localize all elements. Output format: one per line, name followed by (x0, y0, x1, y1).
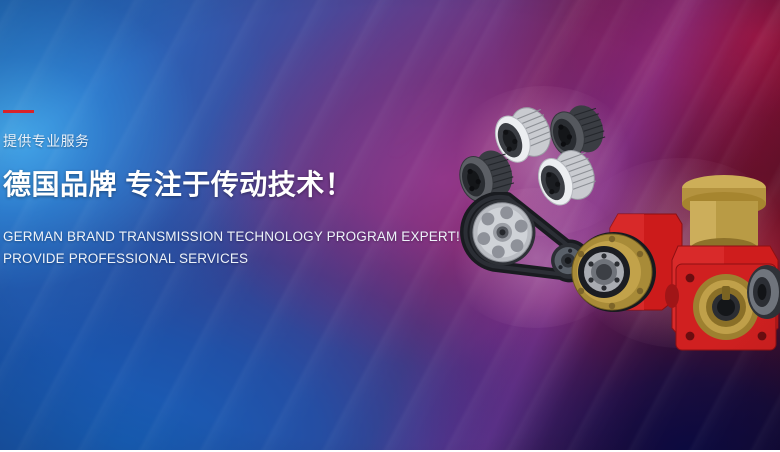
banner-subline-1: GERMAN BRAND TRANSMISSION TECHNOLOGY PRO… (3, 226, 422, 248)
banner-copy: 提供专业服务 德国品牌 专注于传动技术！ GERMAN BRAND TRANSM… (2, 110, 422, 270)
hero-banner: 提供专业服务 德国品牌 专注于传动技术！ GERMAN BRAND TRANSM… (0, 0, 780, 452)
banner-kicker: 提供专业服务 (3, 133, 422, 149)
banner-subline-2: PROVIDE PROFESSIONAL SERVICES (3, 248, 422, 270)
accent-rule (3, 110, 34, 113)
banner-headline: 德国品牌 专注于传动技术！ (3, 170, 422, 200)
